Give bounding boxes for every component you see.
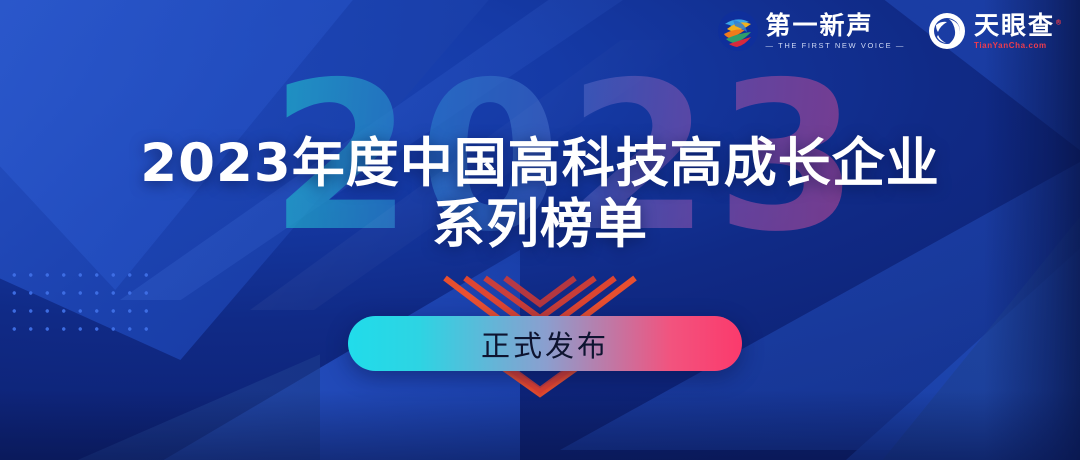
poster-title-line-1: 2023年度中国高科技高成长企业 (0, 136, 1080, 191)
header-logo-group: 第一新声 — THE FIRST NEW VOICE — 天眼查® TianYa… (717, 10, 1064, 52)
poster-title-line-2: 系列榜单 (0, 197, 1080, 252)
logo-first-new-voice-name: 第一新声 (766, 13, 905, 38)
release-status-button[interactable]: 正式发布 (348, 316, 742, 371)
bg-bottom-edge-shade (0, 390, 1080, 460)
logo-tianyancha-cn: 天眼查 (974, 11, 1055, 40)
logo-first-new-voice-text: 第一新声 — THE FIRST NEW VOICE — (766, 13, 905, 50)
tianyancha-eye-icon (927, 11, 967, 51)
first-new-voice-swirl-icon (717, 10, 759, 52)
poster-title: 2023年度中国高科技高成长企业 系列榜单 (0, 136, 1080, 252)
logo-tianyancha-text: 天眼查® TianYanCha.com (974, 13, 1064, 50)
logo-first-new-voice-tagline: — THE FIRST NEW VOICE — (766, 42, 905, 50)
trademark-symbol: ® (1055, 18, 1064, 26)
release-status-label: 正式发布 (481, 323, 609, 365)
logo-first-new-voice[interactable]: 第一新声 — THE FIRST NEW VOICE — (717, 10, 905, 52)
logo-tianyancha-domain: TianYanCha.com (974, 42, 1064, 50)
dot-grid-decoration (6, 266, 152, 338)
logo-tianyancha-name: 天眼查® (974, 13, 1064, 38)
poster-banner: 2023 2023年度中国高科技高成长企业 系列榜单 正式发布 (0, 0, 1080, 460)
logo-tianyancha[interactable]: 天眼查® TianYanCha.com (927, 11, 1064, 51)
